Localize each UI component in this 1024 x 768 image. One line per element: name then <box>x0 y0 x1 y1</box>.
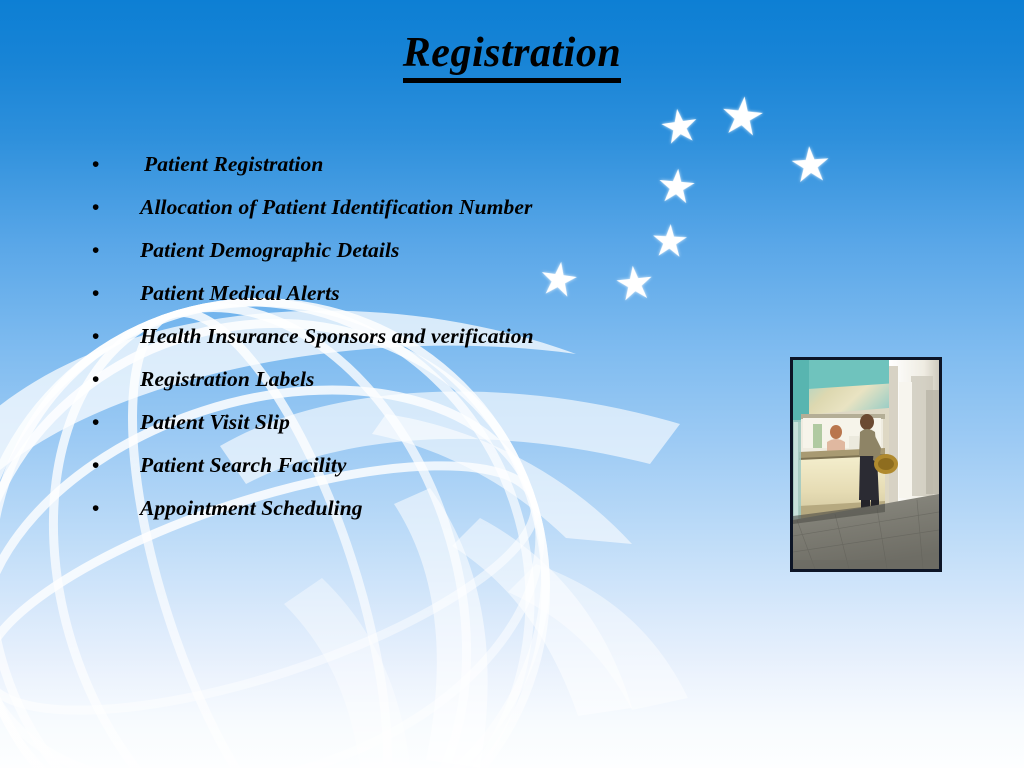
reception-photo <box>790 357 942 572</box>
bullet-marker-icon: • <box>92 455 140 476</box>
list-item: • Allocation of Patient Identification N… <box>92 195 732 238</box>
list-item: • Appointment Scheduling <box>92 496 732 539</box>
list-item-label: Health Insurance Sponsors and verificati… <box>140 324 534 349</box>
bullet-marker-icon: • <box>92 283 140 304</box>
star-icon: ★ <box>656 101 703 152</box>
presentation-slide: ★ ★ ★ ★ ★ ★ ★ Registration • Patient Reg… <box>0 0 1024 768</box>
list-item-label: Patient Visit Slip <box>140 410 290 435</box>
list-item-label: Patient Search Facility <box>140 453 347 478</box>
list-item: • Patient Demographic Details <box>92 238 732 281</box>
list-item-label: Patient Medical Alerts <box>140 281 340 306</box>
list-item: • Patient Visit Slip <box>92 410 732 453</box>
list-item-label: Registration Labels <box>140 367 315 392</box>
list-item-label: Patient Registration <box>140 152 323 177</box>
bullet-marker-icon: • <box>92 412 140 433</box>
bullet-marker-icon: • <box>92 154 140 175</box>
list-item: • Patient Registration <box>92 152 732 195</box>
star-icon: ★ <box>716 90 768 147</box>
slide-title-text: Registration <box>403 31 621 83</box>
list-item: • Patient Medical Alerts <box>92 281 732 324</box>
bullet-marker-icon: • <box>92 240 140 261</box>
bullet-marker-icon: • <box>92 498 140 519</box>
bullet-marker-icon: • <box>92 326 140 347</box>
bullet-marker-icon: • <box>92 369 140 390</box>
list-item: • Registration Labels <box>92 367 732 410</box>
list-item-label: Allocation of Patient Identification Num… <box>140 195 533 220</box>
list-item: • Health Insurance Sponsors and verifica… <box>92 324 732 367</box>
reception-photo-image <box>793 360 939 569</box>
bullet-marker-icon: • <box>92 197 140 218</box>
bullet-list: • Patient Registration • Allocation of P… <box>92 152 732 539</box>
slide-title: Registration <box>0 31 1024 83</box>
list-item: • Patient Search Facility <box>92 453 732 496</box>
star-icon: ★ <box>787 141 833 192</box>
list-item-label: Appointment Scheduling <box>140 496 363 521</box>
list-item-label: Patient Demographic Details <box>140 238 400 263</box>
